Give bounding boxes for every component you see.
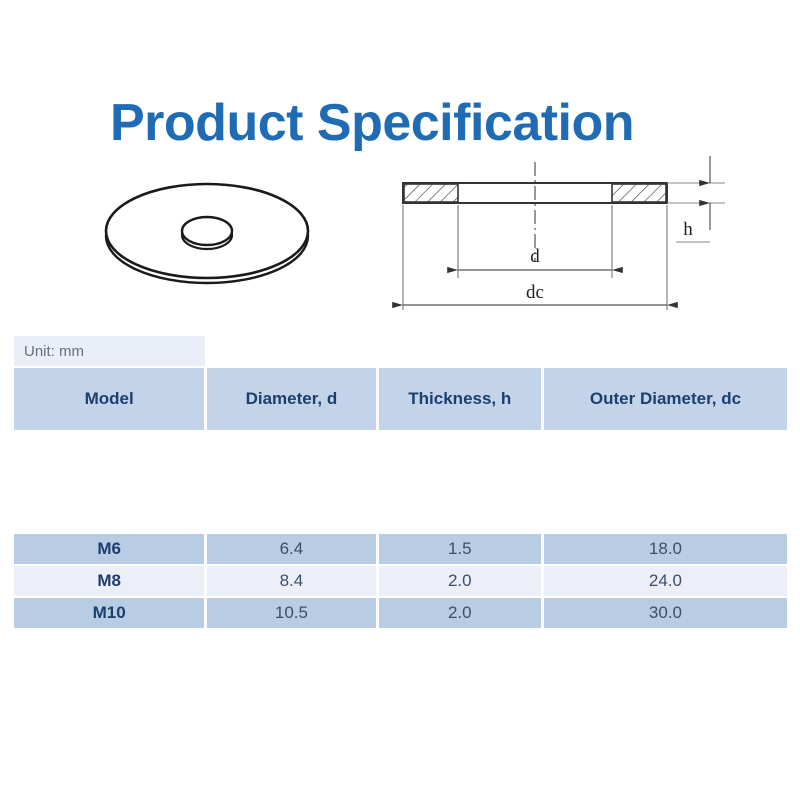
dimension-d: d xyxy=(458,246,612,270)
column-header-model: Model xyxy=(14,368,204,430)
column-header-diameter: Diameter, d xyxy=(207,368,375,430)
column-header-thickness: Thickness, h xyxy=(379,368,541,430)
cell-outer-diameter: 30.0 xyxy=(544,598,787,628)
cell-outer-diameter: 24.0 xyxy=(544,566,787,596)
table-body: M6 6.4 1.5 18.0 M8 8.4 2.0 24.0 M10 10.5… xyxy=(14,534,787,628)
cell-thickness: 2.0 xyxy=(379,566,541,596)
cell-thickness: 1.5 xyxy=(379,534,541,564)
dimension-d-label: d xyxy=(530,246,540,267)
cell-model: M8 xyxy=(14,566,204,596)
table-spacer xyxy=(14,430,787,534)
dimension-h: h xyxy=(667,156,725,242)
dimension-dc-label: dc xyxy=(526,282,544,303)
cell-model: M10 xyxy=(14,598,204,628)
washer-section-svg: d dc h xyxy=(390,150,740,325)
specification-table: Unit: mm Model Diameter, d Thickness, h … xyxy=(14,336,787,630)
table-header-row: Model Diameter, d Thickness, h Outer Dia… xyxy=(14,368,787,430)
cell-thickness: 2.0 xyxy=(379,598,541,628)
column-header-outer-diameter: Outer Diameter, dc xyxy=(544,368,787,430)
drawings-area: d dc h xyxy=(0,140,800,330)
table-row: M10 10.5 2.0 30.0 xyxy=(14,598,787,628)
dimension-dc: dc xyxy=(403,282,667,305)
washer-isometric-svg xyxy=(100,160,315,300)
cell-diameter: 6.4 xyxy=(207,534,375,564)
dimension-h-label: h xyxy=(683,219,693,240)
unit-row: Unit: mm xyxy=(14,336,787,366)
unit-label: Unit: mm xyxy=(14,336,205,366)
cell-diameter: 10.5 xyxy=(207,598,375,628)
table-row: M8 8.4 2.0 24.0 xyxy=(14,566,787,596)
cell-model: M6 xyxy=(14,534,204,564)
cell-diameter: 8.4 xyxy=(207,566,375,596)
product-specification-page: Product Specification xyxy=(0,0,800,800)
cell-outer-diameter: 18.0 xyxy=(544,534,787,564)
flat-washer-cross-section-drawing: d dc h xyxy=(390,150,740,325)
flat-washer-isometric-drawing xyxy=(100,160,315,300)
table-row: M6 6.4 1.5 18.0 xyxy=(14,534,787,564)
